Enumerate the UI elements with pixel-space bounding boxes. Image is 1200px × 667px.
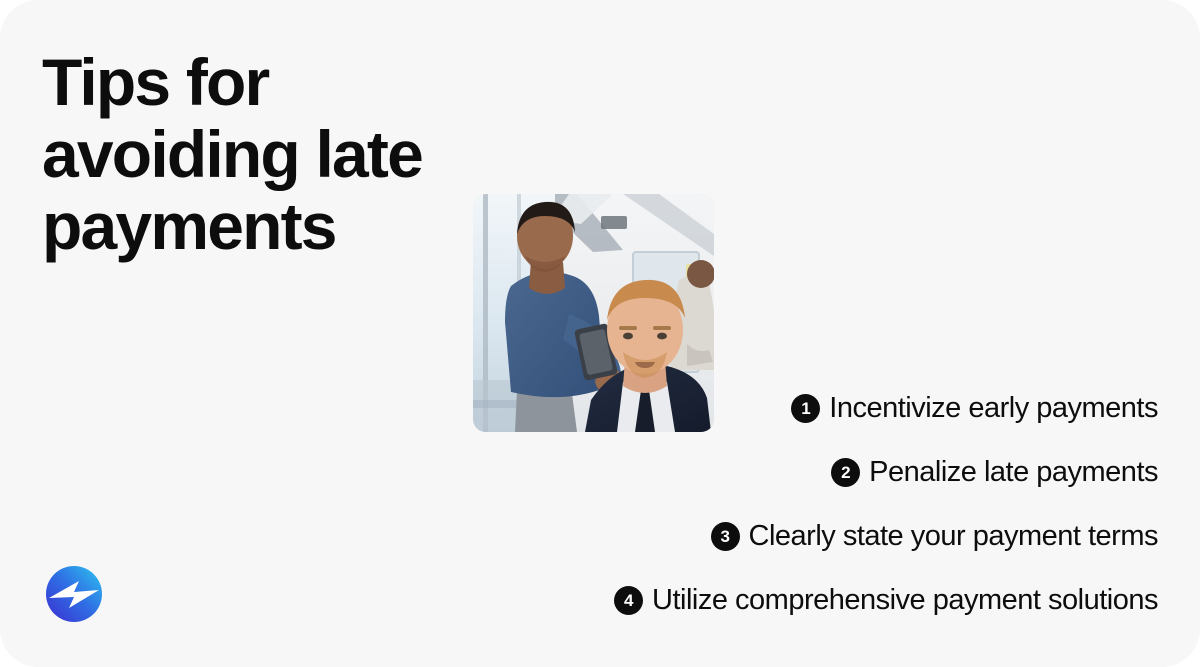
lightning-bolt-logo: [45, 565, 103, 623]
slide-canvas: Tips for avoiding late payments: [0, 0, 1200, 667]
list-item: 3 Clearly state your payment terms: [711, 520, 1158, 553]
tip-number-badge: 2: [831, 458, 860, 487]
tip-label: Penalize late payments: [869, 456, 1158, 489]
list-item: 1 Incentivize early payments: [791, 392, 1158, 425]
tip-number-badge: 3: [711, 522, 740, 551]
list-item: 2 Penalize late payments: [831, 456, 1158, 489]
tip-number-badge: 1: [791, 394, 820, 423]
tip-number-badge: 4: [614, 586, 643, 615]
tip-label: Utilize comprehensive payment solutions: [652, 584, 1158, 617]
page-title: Tips for avoiding late payments: [42, 46, 502, 262]
tip-label: Clearly state your payment terms: [749, 520, 1158, 553]
tip-label: Incentivize early payments: [829, 392, 1158, 425]
lightning-bolt-icon: [45, 565, 103, 623]
tips-list: 1 Incentivize early payments 2 Penalize …: [418, 392, 1158, 617]
list-item: 4 Utilize comprehensive payment solution…: [614, 584, 1158, 617]
